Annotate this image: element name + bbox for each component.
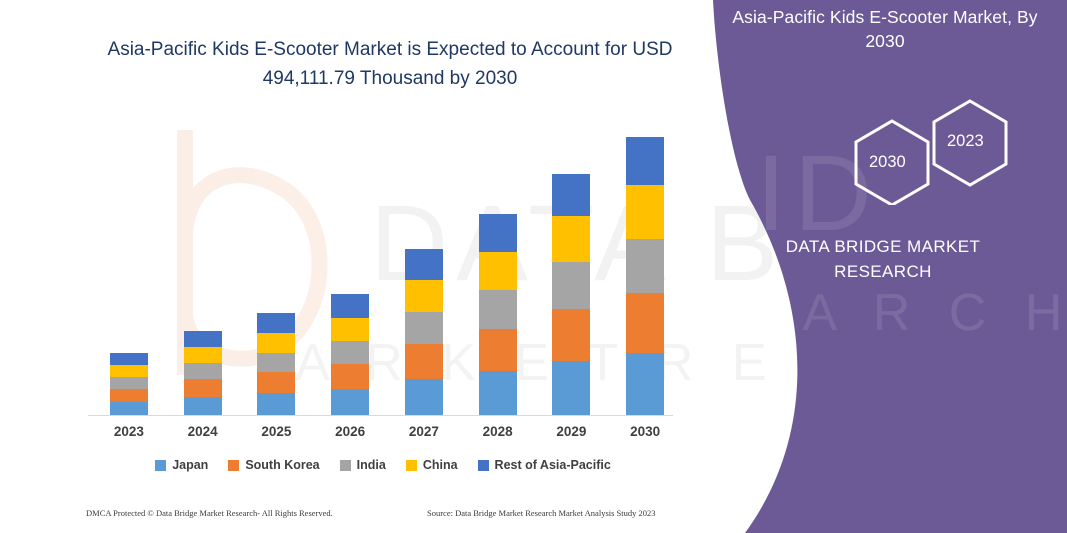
bar-segment-2024-rest-of-asia-pacific	[184, 331, 222, 347]
legend-item-china[interactable]: China	[406, 458, 458, 472]
bar-segment-2023-rest-of-asia-pacific	[110, 353, 148, 365]
brand-name-line1: DATA BRIDGE MARKET	[718, 235, 1048, 260]
chart-baseline-axis	[88, 415, 673, 416]
footer: DMCA Protected © Data Bridge Market Rese…	[86, 508, 686, 524]
hexagon-2030-label: 2030	[869, 153, 906, 172]
bar-segment-2023-india	[110, 377, 148, 389]
panel-title: Asia-Pacific Kids E-Scooter Market, By 2…	[720, 6, 1050, 53]
bar-segment-2026-china	[331, 318, 369, 341]
bar-segment-2030-india	[626, 239, 664, 293]
legend-item-india[interactable]: India	[340, 458, 386, 472]
bar-2030	[626, 137, 664, 416]
page-title: Asia-Pacific Kids E-Scooter Market is Ex…	[86, 36, 694, 93]
legend-swatch-icon	[478, 460, 489, 471]
bar-segment-2027-india	[405, 312, 443, 344]
bar-segment-2029-china	[552, 216, 590, 262]
bar-segment-2027-japan	[405, 379, 443, 416]
bar-segment-2027-south-korea	[405, 344, 443, 379]
bar-segment-2026-rest-of-asia-pacific	[331, 294, 369, 318]
bar-segment-2025-rest-of-asia-pacific	[257, 313, 295, 333]
legend-swatch-icon	[406, 460, 417, 471]
chart-x-axis: 20232024202520262027202820292030	[88, 424, 678, 446]
bar-segment-2024-japan	[184, 397, 222, 416]
x-axis-tick-2026: 2026	[320, 424, 380, 439]
chart-legend: JapanSouth KoreaIndiaChinaRest of Asia-P…	[88, 453, 678, 477]
bar-segment-2024-india	[184, 363, 222, 379]
bar-segment-2024-china	[184, 347, 222, 363]
bar-2025	[257, 313, 295, 416]
legend-item-rest-of-asia-pacific[interactable]: Rest of Asia-Pacific	[478, 458, 611, 472]
x-axis-tick-2027: 2027	[394, 424, 454, 439]
brand-name: DATA BRIDGE MARKET RESEARCH	[718, 235, 1048, 284]
bar-segment-2029-rest-of-asia-pacific	[552, 174, 590, 216]
bar-2029	[552, 174, 590, 416]
bar-segment-2028-india	[479, 290, 517, 329]
legend-item-japan[interactable]: Japan	[155, 458, 208, 472]
bar-2028	[479, 214, 517, 416]
chart-plot-area	[88, 120, 678, 416]
bar-segment-2030-china	[626, 185, 664, 239]
bar-segment-2030-japan	[626, 353, 664, 416]
bar-2024	[184, 331, 222, 416]
bar-segment-2030-rest-of-asia-pacific	[626, 137, 664, 185]
legend-label: China	[423, 458, 458, 472]
bar-segment-2025-india	[257, 353, 295, 372]
x-axis-tick-2025: 2025	[246, 424, 306, 439]
bar-segment-2028-south-korea	[479, 329, 517, 371]
bar-segment-2023-south-korea	[110, 389, 148, 402]
bar-segment-2023-japan	[110, 402, 148, 416]
bar-segment-2025-japan	[257, 393, 295, 416]
bar-segment-2028-rest-of-asia-pacific	[479, 214, 517, 252]
bar-segment-2027-rest-of-asia-pacific	[405, 249, 443, 280]
bar-segment-2024-south-korea	[184, 379, 222, 397]
hexagon-2023-label: 2023	[947, 132, 984, 151]
bar-segment-2026-india	[331, 341, 369, 364]
x-axis-tick-2024: 2024	[173, 424, 233, 439]
bar-2023	[110, 353, 148, 416]
bar-segment-2029-india	[552, 262, 590, 309]
legend-swatch-icon	[340, 460, 351, 471]
bar-segment-2025-south-korea	[257, 372, 295, 393]
bar-segment-2029-japan	[552, 361, 590, 416]
legend-label: Japan	[172, 458, 208, 472]
bar-segment-2029-south-korea	[552, 309, 590, 361]
legend-label: South Korea	[245, 458, 319, 472]
bar-2027	[405, 249, 443, 416]
bar-2026	[331, 294, 369, 416]
bar-segment-2025-china	[257, 333, 295, 353]
hexagon-badges: 2023 2030	[820, 95, 1030, 205]
bar-segment-2028-china	[479, 252, 517, 290]
x-axis-tick-2030: 2030	[615, 424, 675, 439]
legend-item-south-korea[interactable]: South Korea	[228, 458, 319, 472]
x-axis-tick-2029: 2029	[541, 424, 601, 439]
legend-label: Rest of Asia-Pacific	[495, 458, 611, 472]
bar-segment-2023-china	[110, 365, 148, 377]
bar-segment-2026-south-korea	[331, 364, 369, 389]
x-axis-tick-2023: 2023	[99, 424, 159, 439]
bar-segment-2028-japan	[479, 371, 517, 416]
legend-swatch-icon	[155, 460, 166, 471]
footer-copyright: DMCA Protected © Data Bridge Market Rese…	[86, 508, 333, 518]
x-axis-tick-2028: 2028	[468, 424, 528, 439]
footer-source: Source: Data Bridge Market Research Mark…	[427, 508, 656, 518]
brand-panel: BRID R E S E A R C H Asia-Pacific Kids E…	[690, 0, 1067, 533]
bar-segment-2030-south-korea	[626, 293, 664, 353]
bar-segment-2027-china	[405, 280, 443, 312]
brand-name-line2: RESEARCH	[718, 260, 1048, 285]
panel-content: Asia-Pacific Kids E-Scooter Market, By 2…	[690, 0, 1067, 533]
legend-label: India	[357, 458, 386, 472]
bar-segment-2026-japan	[331, 389, 369, 416]
legend-swatch-icon	[228, 460, 239, 471]
infographic-canvas: DATA BRI A R K E T R E S E A R C H Asia-…	[0, 0, 1067, 533]
